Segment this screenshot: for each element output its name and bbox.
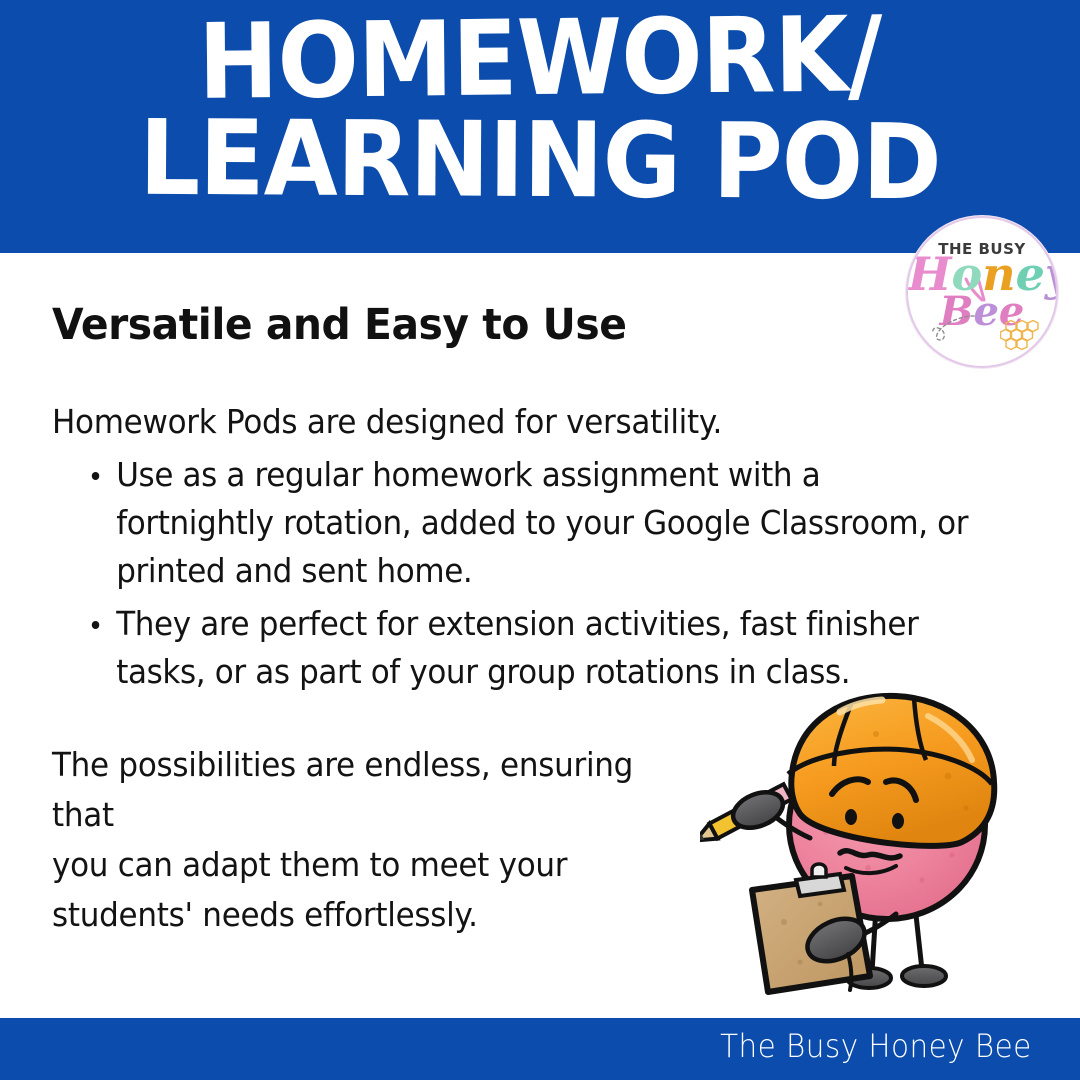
bee-letter-e1: e: [973, 288, 998, 335]
slide-canvas: HOMEWORK/ LEARNING POD THE BUSY Honey Be…: [0, 0, 1080, 1080]
right-eye: [892, 813, 904, 829]
hard-hat-icon: [788, 696, 994, 846]
closing-paragraph-line-3: students' needs effortlessly.: [52, 890, 635, 940]
page-title: HOMEWORK/ LEARNING POD: [43, 8, 1037, 212]
bullet-text: Use as a regular homework assignment wit…: [116, 455, 968, 590]
bullet-dot-icon: [92, 621, 100, 629]
bullet-text: They are perfect for extension activitie…: [116, 604, 918, 691]
brand-logo-inner: THE BUSY Honey Bee: [908, 218, 1056, 366]
page-title-line-2: LEARNING POD: [43, 107, 1037, 215]
honey-letter-y: y: [1045, 251, 1058, 297]
section-heading: Versatile and Easy to Use: [52, 300, 979, 350]
closing-paragraph: The possibilities are endless, ensuring …: [52, 740, 635, 941]
pink-character-hardhat-icon: [700, 690, 1040, 1030]
clipboard-clip-handle: [812, 864, 826, 877]
lead-paragraph: Homework Pods are designed for versatili…: [52, 402, 969, 441]
list-item: They are perfect for extension activitie…: [88, 600, 972, 696]
feature-bullet-list: Use as a regular homework assignment wit…: [52, 451, 1028, 696]
brand-logo-badge: THE BUSY Honey Bee: [906, 216, 1058, 368]
character-illustration: [700, 690, 1040, 1030]
list-item: Use as a regular homework assignment wit…: [88, 451, 972, 596]
closing-paragraph-line-1: The possibilities are endless, ensuring …: [52, 740, 635, 840]
left-eye: [845, 809, 857, 825]
footer-brand-text: The Busy Honey Bee: [720, 1027, 1032, 1065]
honeycomb-icon: [1000, 320, 1040, 350]
swirl-flourish-icon: [930, 314, 976, 342]
closing-paragraph-line-2: you can adapt them to meet your: [52, 840, 635, 890]
bullet-dot-icon: [92, 472, 100, 480]
footer-band: The Busy Honey Bee: [0, 1018, 1080, 1080]
